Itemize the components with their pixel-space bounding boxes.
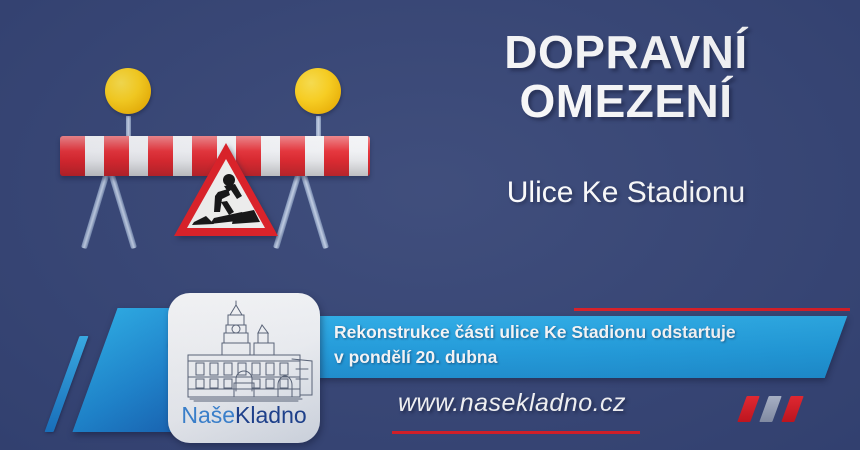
page-subtitle: Ulice Ke Stadionu <box>400 176 852 210</box>
warning-lamp-right-icon <box>295 68 341 114</box>
announcement-line-1: Rekonstrukce části ulice Ke Stadionu ods… <box>334 320 814 345</box>
barrier-leg-left-inner <box>106 165 137 249</box>
decorative-tick-red-2 <box>781 396 803 422</box>
headline-line-1: DOPRAVNÍ <box>400 28 852 77</box>
announcement-text: Rekonstrukce části ulice Ke Stadionu ods… <box>334 320 814 370</box>
divider-red-top <box>574 308 850 311</box>
roadwork-barrier-illustration <box>60 48 370 253</box>
barrier-leg-right-inner <box>298 165 329 249</box>
page-title: DOPRAVNÍ OMEZENÍ <box>400 28 852 126</box>
kladno-town-hall-icon <box>174 299 314 403</box>
logo-word-kladno: Kladno <box>235 402 307 428</box>
logo-nasekladno[interactable]: NašeKladno <box>168 293 320 443</box>
logo-word-nase: Naše <box>181 402 235 428</box>
men-at-work-sign-icon <box>172 140 280 240</box>
poster-canvas: DOPRAVNÍ OMEZENÍ Ulice Ke Stadionu Rekon… <box>0 0 860 450</box>
barrier-leg-left-outer <box>81 165 112 249</box>
website-url[interactable]: www.nasekladno.cz <box>398 388 778 418</box>
divider-red-bottom <box>392 431 640 434</box>
announcement-line-2: v pondělí 20. dubna <box>334 345 814 370</box>
logo-wordmark: NašeKladno <box>168 401 320 429</box>
headline-line-2: OMEZENÍ <box>400 77 852 126</box>
warning-lamp-left-icon <box>105 68 151 114</box>
